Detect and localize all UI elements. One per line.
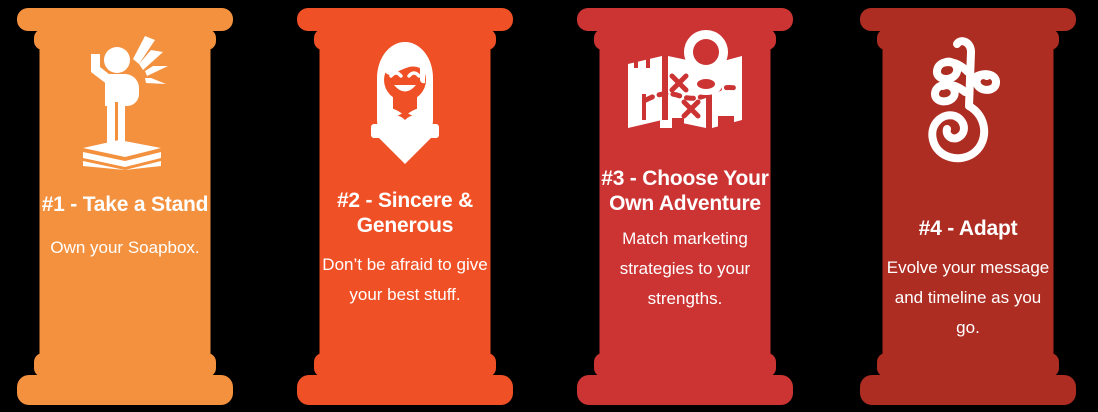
pillar-base-plinth	[577, 375, 793, 405]
pillar-body: Own your Soapbox.	[50, 233, 199, 263]
swirl-flourish-icon	[913, 32, 1023, 178]
infographic-pillars-canvas: #1 - Take a Stand Own your Soapbox.	[0, 0, 1098, 412]
pillar-base-plinth	[860, 375, 1076, 405]
pillar-base-plinth	[297, 375, 513, 405]
pillar-card-2[interactable]: #2 - Sincere & Generous Don’t be afraid …	[297, 0, 513, 412]
pillar-title: #1 - Take a Stand	[42, 192, 209, 217]
woman-holding-heart-icon	[345, 34, 465, 168]
pillar-card-1[interactable]: #1 - Take a Stand Own your Soapbox.	[17, 0, 233, 412]
pillar-body: Match marketing strategies to your stren…	[601, 224, 769, 314]
person-on-soapbox-speaking-icon	[69, 30, 181, 170]
pillar-content-3: #3 - Choose Your Own Adventure Match mar…	[601, 28, 769, 358]
pillar-body: Evolve your message and timeline as you …	[884, 253, 1052, 343]
pillar-title: #4 - Adapt	[919, 216, 1018, 241]
pillar-content-4: #4 - Adapt Evolve your message and timel…	[884, 28, 1052, 358]
pillar-title: #3 - Choose Your Own Adventure	[601, 166, 769, 216]
pillar-base-plinth	[17, 375, 233, 405]
pillar-body: Don’t be afraid to give your best stuff.	[321, 250, 489, 310]
pillar-card-4[interactable]: #4 - Adapt Evolve your message and timel…	[860, 0, 1076, 412]
treasure-map-with-location-pin-icon	[622, 28, 748, 148]
pillar-card-3[interactable]: #3 - Choose Your Own Adventure Match mar…	[577, 0, 793, 412]
pillar-title: #2 - Sincere & Generous	[321, 188, 489, 238]
pillar-content-2: #2 - Sincere & Generous Don’t be afraid …	[321, 28, 489, 358]
pillar-content-1: #1 - Take a Stand Own your Soapbox.	[41, 28, 209, 358]
